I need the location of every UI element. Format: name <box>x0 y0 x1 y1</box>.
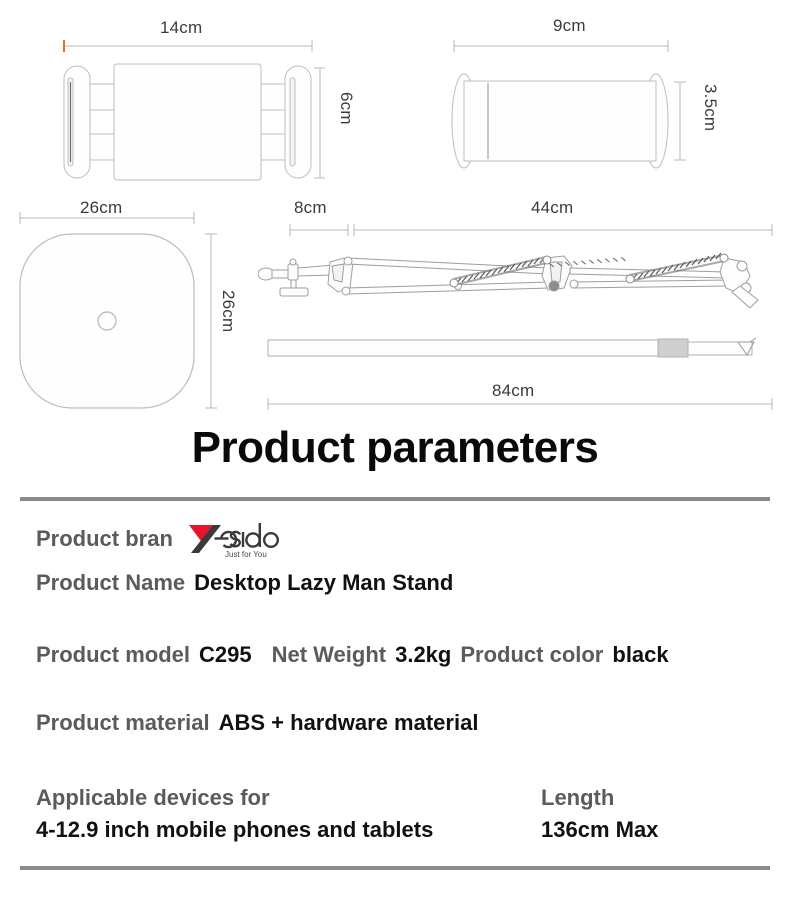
dim-label-side-height: 3.5cm <box>700 84 720 131</box>
dim-label-side-width: 9cm <box>553 16 586 36</box>
divider-top <box>20 497 770 501</box>
devices-column: Applicable devices for 4-12.9 inch mobil… <box>36 782 541 846</box>
dim-label-base-height: 26cm <box>218 290 238 332</box>
devices-value: 4-12.9 inch mobile phones and tablets <box>36 814 541 846</box>
weight-value: 3.2kg <box>395 642 451 668</box>
brand-label: Product bran <box>36 526 173 552</box>
devices-label: Applicable devices for <box>36 782 541 814</box>
material-label: Product material <box>36 710 210 736</box>
spec-row-devices: Applicable devices for 4-12.9 inch mobil… <box>0 778 790 862</box>
spec-table: Product bran <box>0 508 790 862</box>
dim-label-pole-length: 84cm <box>492 381 534 401</box>
product-spec-sheet: 14cm 6cm 9cm 3.5cm <box>0 0 790 900</box>
model-value: C295 <box>199 642 252 668</box>
phone-holder-side-view <box>440 38 700 188</box>
material-value: ABS + hardware material <box>219 710 479 736</box>
section-title-wrap: Product parameters <box>0 425 790 471</box>
name-label: Product Name <box>36 570 185 596</box>
color-label: Product color <box>460 642 603 668</box>
name-value: Desktop Lazy Man Stand <box>194 570 453 596</box>
dimension-diagrams: 14cm 6cm 9cm 3.5cm <box>0 0 790 420</box>
model-label: Product model <box>36 642 190 668</box>
spec-row-name: Product Name Desktop Lazy Man Stand <box>0 570 790 642</box>
logo-tagline: Just for You <box>225 550 267 559</box>
spec-row-model: Product model C295 Net Weight 3.2kg Prod… <box>0 642 790 710</box>
dim-label-arm-segment: 8cm <box>294 198 327 218</box>
dim-label-holder-width: 14cm <box>160 18 202 38</box>
page-title: Product parameters <box>0 425 790 471</box>
base-plate-top-view <box>8 196 238 416</box>
spec-row-brand: Product bran <box>0 508 790 570</box>
dim-label-arm-span: 44cm <box>531 198 573 218</box>
weight-label: Net Weight <box>272 642 386 668</box>
spec-row-material: Product material ABS + hardware material <box>0 710 790 778</box>
yesido-logo: Just for You <box>187 519 283 559</box>
phone-holder-front-view <box>50 38 325 183</box>
dim-label-holder-height: 6cm <box>336 92 356 125</box>
length-value: 136cm Max <box>541 814 658 846</box>
divider-bottom <box>20 866 770 870</box>
color-value: black <box>612 642 668 668</box>
length-label: Length <box>541 782 658 814</box>
dim-label-base-width: 26cm <box>80 198 122 218</box>
articulating-arm-assembly <box>258 196 786 308</box>
length-column: Length 136cm Max <box>541 782 658 846</box>
